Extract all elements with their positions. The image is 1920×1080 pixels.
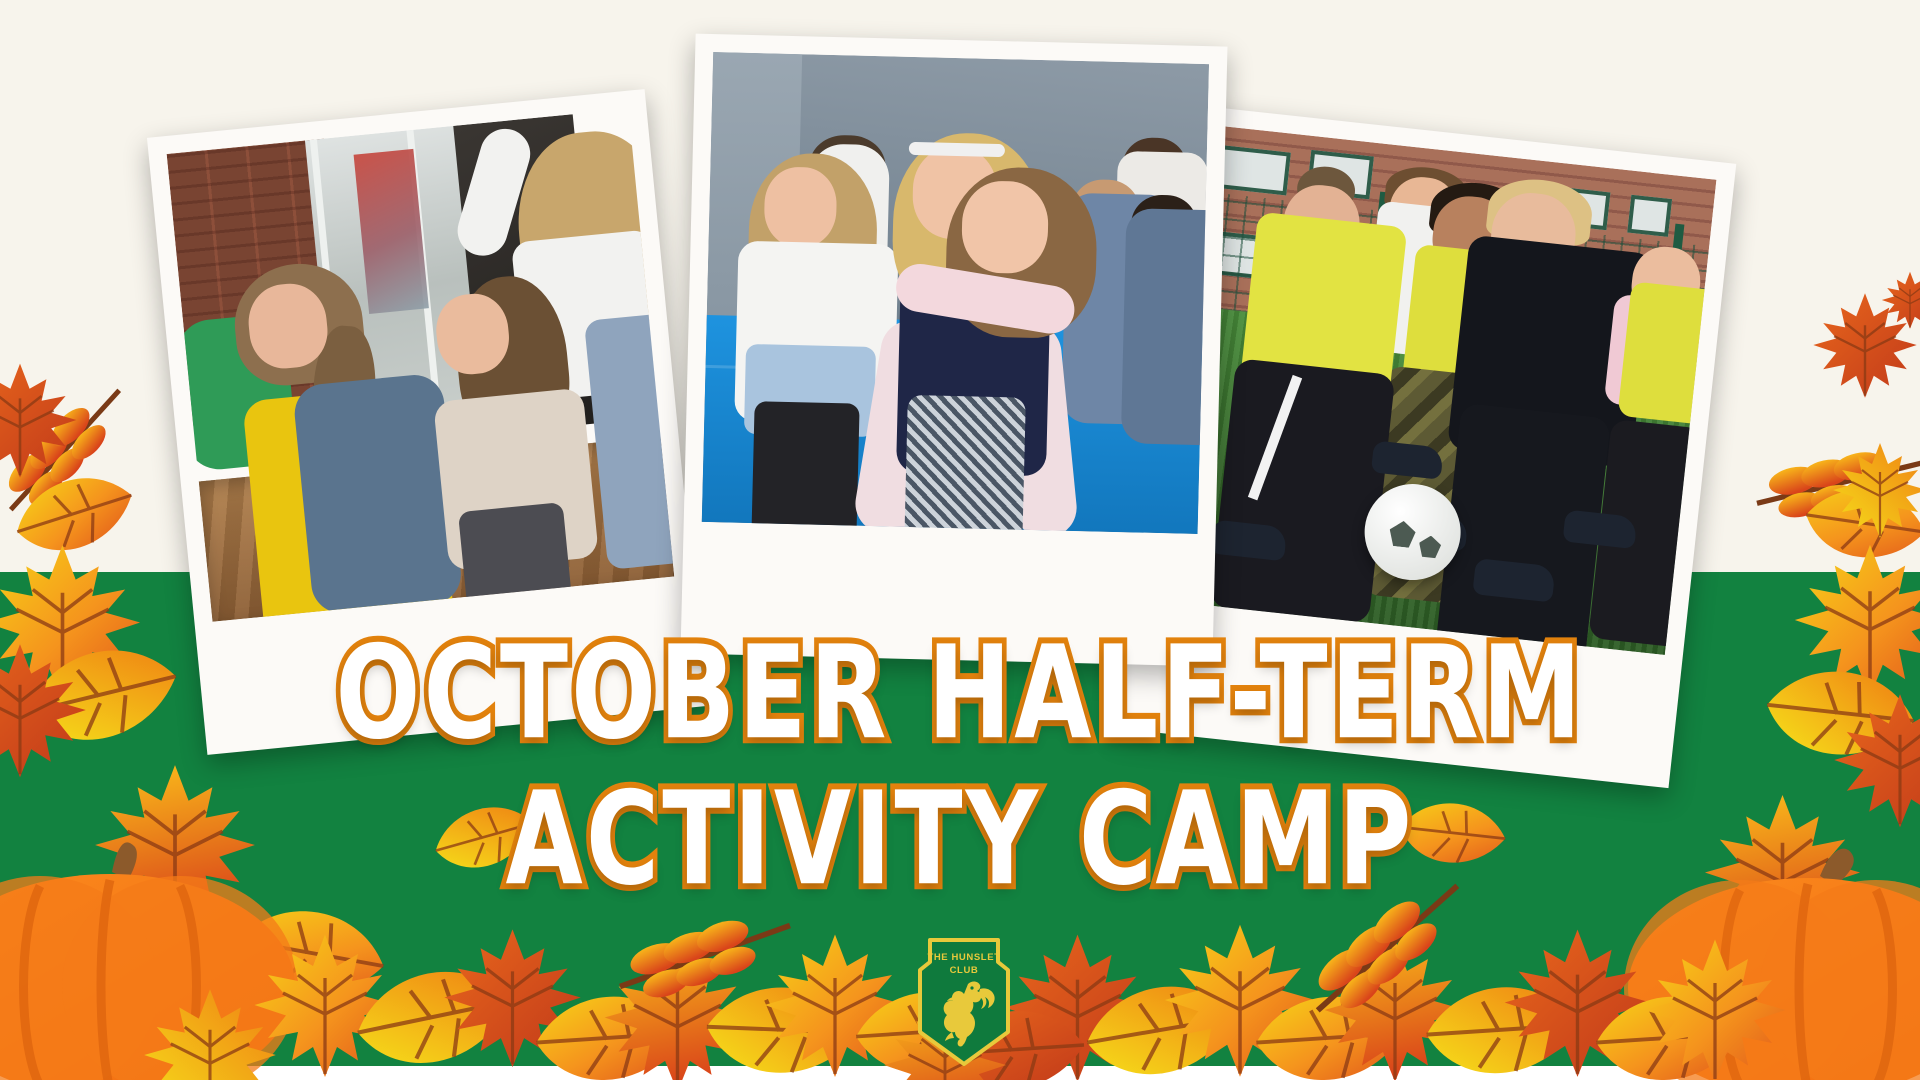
title-line-1: OCTOBER HALF-TERM: [0, 630, 1920, 756]
photo-image-gym: [702, 52, 1209, 534]
bottom-white-strip: [0, 1066, 1920, 1080]
title-line-2: ACTIVITY CAMP: [0, 776, 1920, 902]
poster-canvas: OCTOBER HALF-TERM ACTIVITY CAMP THE HUNS…: [0, 0, 1920, 1080]
photo-image-football: [1148, 124, 1717, 655]
logo-text-line-2: CLUB: [950, 965, 979, 976]
logo-text-line-1: THE HUNSLET: [927, 952, 1000, 963]
club-logo: THE HUNSLET CLUB: [916, 936, 1012, 1068]
photo-image-dance: [167, 109, 675, 622]
poster-title: OCTOBER HALF-TERM ACTIVITY CAMP: [0, 630, 1920, 870]
photo-card-gym: [681, 34, 1228, 667]
